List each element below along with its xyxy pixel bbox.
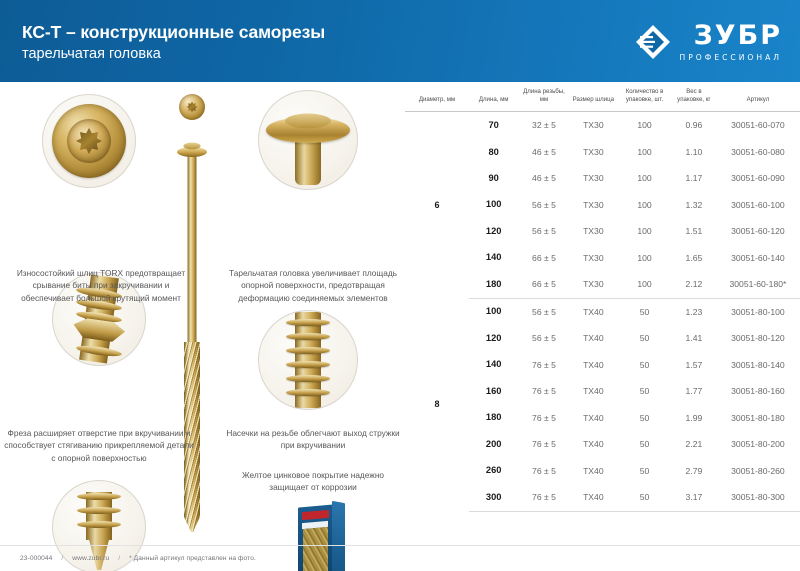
cell-drive-size: TX30 bbox=[570, 218, 618, 244]
cell-drive-size: TX30 bbox=[570, 192, 618, 218]
column-header-quantity: Количество в упаковке, шт. bbox=[617, 82, 672, 112]
cell-quantity: 100 bbox=[617, 139, 672, 165]
table-body: 67032 ± 5TX301000.9630051-60-0708046 ± 5… bbox=[405, 112, 800, 511]
cell-length: 200 bbox=[469, 431, 518, 457]
thread-rib-shape bbox=[286, 389, 330, 396]
footer-doc-code: 23-000044 bbox=[20, 555, 52, 562]
table-row: 67032 ± 5TX301000.9630051-60-070 bbox=[405, 112, 800, 139]
page-header: КС-Т – конструкционные саморезы тарельча… bbox=[0, 0, 800, 82]
feature-text-thread-notches: Насечки на резьбе облегчают выход стружк… bbox=[222, 427, 404, 452]
cell-thread-length: 46 ± 5 bbox=[518, 165, 569, 191]
cell-weight: 1.17 bbox=[672, 165, 716, 191]
cell-thread-length: 76 ± 5 bbox=[518, 352, 569, 378]
cell-drive-size: TX30 bbox=[570, 139, 618, 165]
cell-drive-size: TX40 bbox=[570, 298, 618, 325]
cell-article: 30051-60-120 bbox=[716, 218, 800, 244]
cell-thread-length: 32 ± 5 bbox=[518, 112, 569, 139]
cell-drive-size: TX30 bbox=[570, 245, 618, 271]
cell-length: 80 bbox=[469, 139, 518, 165]
cell-thread-length: 56 ± 5 bbox=[518, 218, 569, 244]
brand-text-block: ЗУБР ПРОФЕССИОНАЛ bbox=[680, 22, 782, 62]
screw-shank-shape bbox=[188, 152, 197, 342]
cell-quantity: 100 bbox=[617, 112, 672, 139]
cell-thread-length: 66 ± 5 bbox=[518, 245, 569, 271]
thread-rib-shape bbox=[286, 375, 330, 382]
footer-separator-2: / bbox=[111, 555, 127, 562]
cell-quantity: 50 bbox=[617, 405, 672, 431]
cell-thread-length: 56 ± 5 bbox=[518, 325, 569, 351]
cell-length: 70 bbox=[469, 112, 518, 139]
cell-article: 30051-60-180* bbox=[716, 271, 800, 298]
cell-article: 30051-80-100 bbox=[716, 298, 800, 325]
cell-thread-length: 76 ± 5 bbox=[518, 458, 569, 484]
cell-weight: 0.96 bbox=[672, 112, 716, 139]
cell-article: 30051-80-160 bbox=[716, 378, 800, 404]
cell-quantity: 50 bbox=[617, 431, 672, 457]
thread-notch-detail-image bbox=[258, 310, 358, 410]
cell-weight: 1.10 bbox=[672, 139, 716, 165]
cell-article: 30051-80-300 bbox=[716, 484, 800, 511]
brand-name: ЗУБР bbox=[694, 22, 782, 49]
table-head: Диаметр, мм Длина, мм Длина резьбы, мм Р… bbox=[405, 82, 800, 112]
main-screw-image bbox=[176, 94, 208, 534]
cell-article: 30051-60-090 bbox=[716, 165, 800, 191]
cell-drive-size: TX40 bbox=[570, 352, 618, 378]
cell-weight: 1.99 bbox=[672, 405, 716, 431]
cell-thread-length: 66 ± 5 bbox=[518, 271, 569, 298]
cell-thread-length: 56 ± 5 bbox=[518, 192, 569, 218]
tip-rib-shape bbox=[77, 493, 121, 500]
page-subtitle: тарельчатая головка bbox=[22, 45, 325, 64]
cell-quantity: 50 bbox=[617, 325, 672, 351]
cell-article: 30051-60-070 bbox=[716, 112, 800, 139]
torx-head-detail-image bbox=[42, 94, 136, 188]
cell-article: 30051-60-140 bbox=[716, 245, 800, 271]
cell-drive-size: TX40 bbox=[570, 378, 618, 404]
footer-separator-1: / bbox=[54, 555, 70, 562]
cell-quantity: 50 bbox=[617, 458, 672, 484]
cell-weight: 2.79 bbox=[672, 458, 716, 484]
cell-length: 120 bbox=[469, 325, 518, 351]
thread-rib-shape bbox=[286, 333, 330, 340]
cell-article: 30051-80-260 bbox=[716, 458, 800, 484]
cell-quantity: 50 bbox=[617, 484, 672, 511]
cell-weight: 3.17 bbox=[672, 484, 716, 511]
cell-weight: 1.41 bbox=[672, 325, 716, 351]
thread-rib-shape bbox=[286, 319, 330, 326]
brand-tagline: ПРОФЕССИОНАЛ bbox=[680, 53, 782, 62]
product-datasheet-page: КС-Т – конструкционные саморезы тарельча… bbox=[0, 0, 800, 571]
cell-length: 100 bbox=[469, 192, 518, 218]
cell-article: 30051-80-200 bbox=[716, 431, 800, 457]
cell-length: 260 bbox=[469, 458, 518, 484]
screw-flange-top-shape bbox=[184, 143, 201, 150]
footer-content: 23-000044 / www.zubr.ru / * Данный артик… bbox=[0, 555, 256, 562]
cell-quantity: 100 bbox=[617, 245, 672, 271]
cell-weight: 2.12 bbox=[672, 271, 716, 298]
table-header-row: Диаметр, мм Длина, мм Длина резьбы, мм Р… bbox=[405, 82, 800, 112]
cell-weight: 1.57 bbox=[672, 352, 716, 378]
cell-weight: 2.21 bbox=[672, 431, 716, 457]
cell-length: 140 bbox=[469, 352, 518, 378]
cell-thread-length: 76 ± 5 bbox=[518, 405, 569, 431]
cell-quantity: 100 bbox=[617, 218, 672, 244]
cell-drive-size: TX40 bbox=[570, 431, 618, 457]
header-title-block: КС-Т – конструкционные саморезы тарельча… bbox=[22, 23, 325, 63]
cell-length: 100 bbox=[469, 298, 518, 325]
cell-length: 180 bbox=[469, 405, 518, 431]
cell-weight: 1.51 bbox=[672, 218, 716, 244]
cell-weight: 1.77 bbox=[672, 378, 716, 404]
cell-thread-length: 46 ± 5 bbox=[518, 139, 569, 165]
cell-drive-size: TX40 bbox=[570, 325, 618, 351]
cell-article: 30051-60-100 bbox=[716, 192, 800, 218]
column-header-length: Длина, мм bbox=[469, 82, 518, 112]
column-header-drive-size: Размер шлица bbox=[570, 82, 618, 112]
cell-length: 300 bbox=[469, 484, 518, 511]
cell-article: 30051-60-080 bbox=[716, 139, 800, 165]
cell-article: 30051-80-120 bbox=[716, 325, 800, 351]
product-illustration-panel: Упаковка: коробка Износостойкий шлиц TOR… bbox=[0, 82, 405, 571]
cell-quantity: 100 bbox=[617, 192, 672, 218]
brand-logo: ЗУБР ПРОФЕССИОНАЛ bbox=[634, 22, 782, 62]
cell-weight: 1.23 bbox=[672, 298, 716, 325]
cell-diameter: 6 bbox=[405, 112, 469, 298]
cell-weight: 1.32 bbox=[672, 192, 716, 218]
column-header-diameter: Диаметр, мм bbox=[405, 82, 469, 112]
cell-drive-size: TX30 bbox=[570, 271, 618, 298]
cell-length: 140 bbox=[469, 245, 518, 271]
footer-website[interactable]: www.zubr.ru bbox=[72, 555, 109, 562]
cell-article: 30051-80-140 bbox=[716, 352, 800, 378]
cell-thread-length: 76 ± 5 bbox=[518, 431, 569, 457]
footer-note: * Данный артикул представлен на фото. bbox=[129, 555, 256, 562]
cell-article: 30051-80-180 bbox=[716, 405, 800, 431]
column-header-thread-length: Длина резьбы, мм bbox=[518, 82, 569, 112]
cell-length: 160 bbox=[469, 378, 518, 404]
disc-shank-shape bbox=[295, 139, 321, 185]
cell-quantity: 50 bbox=[617, 298, 672, 325]
cell-quantity: 50 bbox=[617, 378, 672, 404]
cell-thread-length: 56 ± 5 bbox=[518, 298, 569, 325]
cell-drive-size: TX40 bbox=[570, 484, 618, 511]
feature-text-milling-cutter: Фреза расширяет отверстие при вкручивани… bbox=[4, 427, 194, 464]
cell-drive-size: TX40 bbox=[570, 405, 618, 431]
feature-text-disc-head: Тарельчатая головка увеличивает площадь … bbox=[218, 267, 408, 304]
feature-text-torx-drive: Износостойкий шлиц TORX предотвращает ср… bbox=[10, 267, 192, 304]
cell-quantity: 100 bbox=[617, 271, 672, 298]
table-row: 810056 ± 5TX40501.2330051-80-100 bbox=[405, 298, 800, 325]
thread-rib-shape bbox=[286, 361, 330, 368]
cell-thread-length: 76 ± 5 bbox=[518, 378, 569, 404]
disc-top-shape bbox=[285, 114, 331, 129]
cell-quantity: 50 bbox=[617, 352, 672, 378]
cell-diameter: 8 bbox=[405, 298, 469, 511]
tip-rib-shape bbox=[77, 521, 121, 528]
cell-quantity: 100 bbox=[617, 165, 672, 191]
cell-drive-size: TX30 bbox=[570, 112, 618, 139]
zubr-arrow-icon bbox=[634, 23, 672, 61]
column-header-article: Артикул bbox=[716, 82, 800, 112]
cell-length: 180 bbox=[469, 271, 518, 298]
cell-length: 120 bbox=[469, 218, 518, 244]
cell-thread-length: 76 ± 5 bbox=[518, 484, 569, 511]
column-header-weight: Вес в упаковке, кг bbox=[672, 82, 716, 112]
thread-rib-shape bbox=[286, 347, 330, 354]
specification-table-panel: Диаметр, мм Длина, мм Длина резьбы, мм Р… bbox=[405, 82, 800, 542]
feature-text-zinc-coating: Желтое цинковое покрытие надежно защищае… bbox=[222, 469, 404, 494]
page-footer: 23-000044 / www.zubr.ru / * Данный артик… bbox=[0, 545, 800, 571]
specification-table: Диаметр, мм Длина, мм Длина резьбы, мм Р… bbox=[405, 82, 800, 512]
cell-drive-size: TX30 bbox=[570, 165, 618, 191]
cell-drive-size: TX40 bbox=[570, 458, 618, 484]
disc-head-detail-image bbox=[258, 90, 358, 190]
page-title: КС-Т – конструкционные саморезы bbox=[22, 23, 325, 43]
cell-length: 90 bbox=[469, 165, 518, 191]
tip-rib-shape bbox=[77, 507, 121, 514]
cell-weight: 1.65 bbox=[672, 245, 716, 271]
